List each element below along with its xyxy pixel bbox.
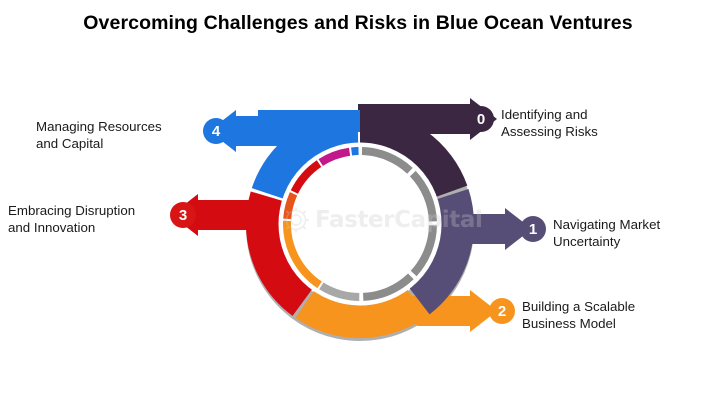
badge-3[interactable]: 3 [170,202,196,228]
infographic-container: Overcoming Challenges and Risks in Blue … [0,0,716,400]
label-line-2: Business Model [522,315,635,332]
label-navigating-market-uncertainty: Navigating Market Uncertainty [553,216,660,250]
label-identifying-and-assessing-risks: Identifying and Assessing Risks [501,106,598,140]
label-line-1: Navigating Market [553,216,660,233]
label-line-1: Managing Resources [36,118,162,135]
badge-4[interactable]: 4 [203,118,229,144]
label-line-2: and Capital [36,135,162,152]
ring-inner-disc [292,156,428,292]
badge-1[interactable]: 1 [520,216,546,242]
circular-process-diagram [0,0,716,400]
label-managing-resources-and-capital: Managing Resources and Capital [36,118,162,152]
label-embracing-disruption-and-innovation: Embracing Disruption and Innovation [8,202,135,236]
label-line-1: Embracing Disruption [8,202,135,219]
label-line-1: Building a Scalable [522,298,635,315]
label-line-2: and Innovation [8,219,135,236]
label-line-1: Identifying and [501,106,598,123]
label-line-2: Uncertainty [553,233,660,250]
label-building-a-scalable-business-model: Building a Scalable Business Model [522,298,635,332]
label-line-2: Assessing Risks [501,123,598,140]
badge-2[interactable]: 2 [489,298,515,324]
badge-0[interactable]: 0 [468,106,494,132]
